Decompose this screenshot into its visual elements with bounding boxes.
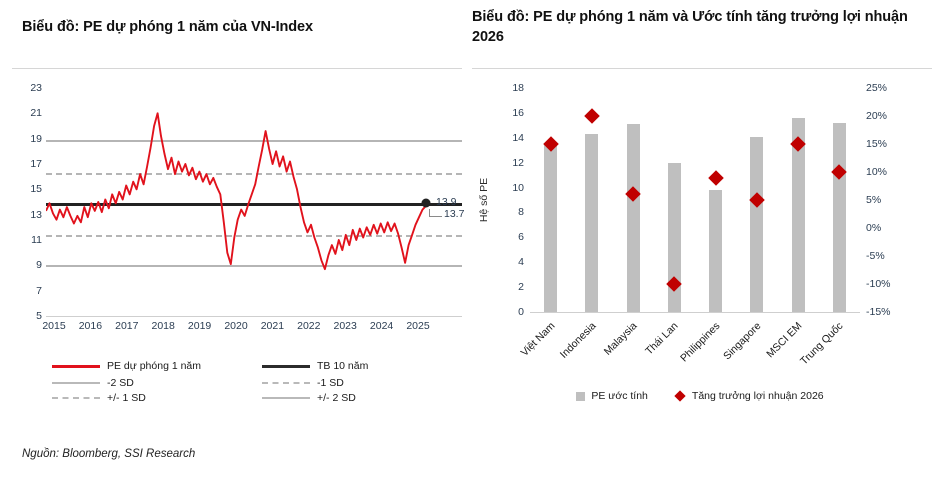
right-chart-left-tick: 4 (518, 256, 524, 268)
legend-swatch (262, 382, 310, 384)
right-chart-title: Biểu đồ: PE dự phóng 1 năm và Ước tính t… (472, 8, 922, 47)
right-chart-left-tick: 10 (512, 182, 524, 194)
last-value-marker (422, 199, 431, 208)
pe-line-series (46, 88, 462, 316)
legend-item: Tăng trưởng lợi nhuận 2026 (674, 390, 824, 402)
right-chart-right-tick: 0% (866, 222, 881, 234)
legend-swatch (262, 397, 310, 399)
right-chart-left-tick: 18 (512, 82, 524, 94)
left-x-tick: 2024 (370, 320, 393, 332)
vnindex-pe-chart: 57911131517192123 13.913.7 2015201620172… (12, 88, 462, 346)
right-chart-left-tick: 6 (518, 231, 524, 243)
right-chart-left-tick: 2 (518, 281, 524, 293)
right-chart-left-tick: 16 (512, 107, 524, 119)
left-y-tick: 17 (18, 158, 42, 170)
left-x-axis-line (46, 316, 462, 317)
legend-label: PE dự phóng 1 năm (107, 360, 201, 372)
right-chart-left-axis: 024681012141618 (500, 88, 526, 312)
legend-item: TB 10 năm (262, 360, 368, 372)
left-y-tick: 23 (18, 82, 42, 94)
legend-diamond-icon (674, 390, 685, 401)
right-chart-right-axis: -15%-10%-5%0%5%10%15%20%25% (864, 88, 900, 312)
right-chart-right-tick: -15% (866, 306, 891, 318)
right-chart-right-tick: -5% (866, 250, 885, 262)
left-chart-legend: PE dự phóng 1 nămTB 10 năm-2 SD-1 SD+/- … (12, 360, 462, 408)
left-x-tick: 2018 (152, 320, 175, 332)
label-leader-line (429, 209, 442, 217)
growth-marker (584, 108, 600, 124)
legend-label: PE ước tính (591, 390, 648, 402)
left-x-tick: 2022 (297, 320, 320, 332)
left-y-tick: 9 (18, 259, 42, 271)
left-x-tick: 2016 (79, 320, 102, 332)
label-current-value: 13.7 (444, 208, 464, 220)
legend-item: +/- 2 SD (262, 392, 356, 404)
legend-label: TB 10 năm (317, 360, 368, 372)
left-x-tick: 2021 (261, 320, 284, 332)
legend-swatch (52, 365, 100, 368)
legend-label: Tăng trưởng lợi nhuận 2026 (692, 390, 824, 402)
legend-item: -1 SD (262, 377, 344, 389)
bar (627, 124, 640, 312)
left-y-tick: 13 (18, 209, 42, 221)
left-x-tick: 2017 (115, 320, 138, 332)
legend-label: -2 SD (107, 377, 134, 389)
right-baseline (530, 312, 860, 313)
left-chart-title: Biểu đồ: PE dự phóng 1 năm của VN-Index (22, 18, 442, 38)
regional-pe-growth-chart: 024681012141618 -15%-10%-5%0%5%10%15%20%… (500, 88, 900, 318)
right-title-divider (472, 68, 932, 69)
left-chart-panel: Biểu đồ: PE dự phóng 1 năm của VN-Index … (0, 0, 468, 480)
label-avg-value: 13.9 (436, 196, 456, 208)
legend-label: +/- 2 SD (317, 392, 356, 404)
legend-swatch (262, 365, 310, 368)
right-chart-left-tick: 14 (512, 132, 524, 144)
legend-swatch (52, 397, 100, 399)
right-chart-right-tick: -10% (866, 278, 891, 290)
left-y-tick: 11 (18, 234, 42, 246)
left-x-tick: 2019 (188, 320, 211, 332)
left-y-tick: 7 (18, 285, 42, 297)
legend-square-icon (576, 392, 585, 401)
bar (833, 123, 846, 312)
bar (544, 144, 557, 312)
bars-plot-area (530, 88, 860, 312)
right-chart-right-tick: 15% (866, 138, 887, 150)
left-y-tick: 19 (18, 133, 42, 145)
right-chart-right-tick: 25% (866, 82, 887, 94)
left-y-tick: 21 (18, 107, 42, 119)
right-chart-left-tick: 8 (518, 206, 524, 218)
right-chart-right-tick: 5% (866, 194, 881, 206)
right-chart-right-tick: 10% (866, 166, 887, 178)
legend-item: -2 SD (52, 377, 134, 389)
bar (750, 137, 763, 312)
legend-item: PE dự phóng 1 năm (52, 360, 201, 372)
legend-label: -1 SD (317, 377, 344, 389)
legend-item: PE ước tính (576, 390, 648, 402)
left-x-tick: 2020 (224, 320, 247, 332)
bar (709, 190, 722, 312)
left-axis-title: Hệ số PE (478, 178, 490, 222)
left-y-tick: 5 (18, 310, 42, 322)
legend-swatch (52, 382, 100, 384)
left-x-tick: 2025 (406, 320, 429, 332)
source-note: Nguồn: Bloomberg, SSI Research (22, 448, 195, 460)
left-x-tick: 2015 (42, 320, 65, 332)
left-plot-area: 13.913.7 (46, 88, 462, 316)
growth-marker (708, 170, 724, 186)
right-chart-right-tick: 20% (866, 110, 887, 122)
left-x-tick: 2023 (334, 320, 357, 332)
legend-label: +/- 1 SD (107, 392, 146, 404)
left-title-divider (12, 68, 462, 69)
left-y-tick: 15 (18, 183, 42, 195)
right-chart-left-tick: 12 (512, 157, 524, 169)
bar (585, 134, 598, 312)
right-chart-left-tick: 0 (518, 306, 524, 318)
legend-item: +/- 1 SD (52, 392, 146, 404)
right-chart-legend: PE ước tínhTăng trưởng lợi nhuận 2026 (500, 390, 900, 402)
left-y-axis: 57911131517192123 (12, 88, 42, 316)
